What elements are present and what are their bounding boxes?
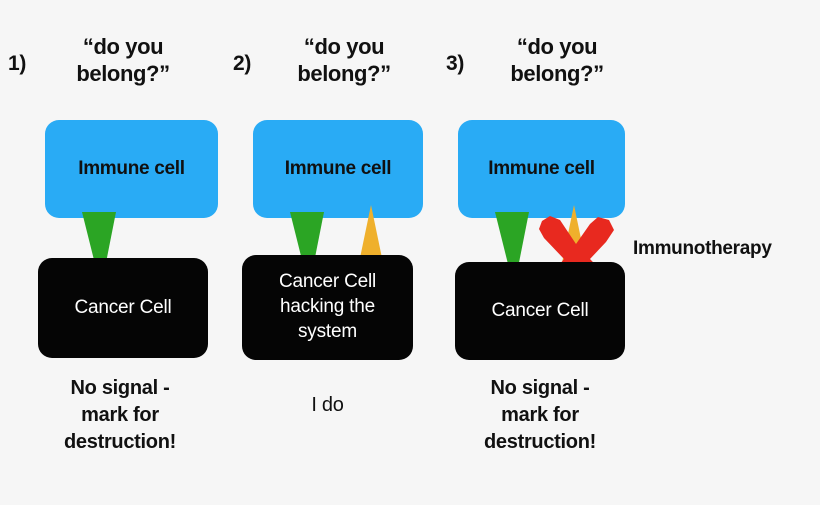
panel-1: 1) “do you belong?” Immune cell Cancer C… <box>0 0 250 505</box>
immune-cell-box-3: Immune cell <box>458 120 625 218</box>
question-text-3: “do you belong?” <box>482 34 632 88</box>
immune-cell-box-1: Immune cell <box>45 120 218 218</box>
cancer-cell-box-1: Cancer Cell <box>38 258 208 358</box>
cancer-cell-label-2: Cancer Cell hacking the system <box>271 270 384 344</box>
step-number-1: 1) <box>8 52 26 76</box>
caption-2: I do <box>225 392 430 419</box>
immune-cell-label-1: Immune cell <box>78 158 185 180</box>
immune-cell-box-2: Immune cell <box>253 120 423 218</box>
immune-cell-label-2: Immune cell <box>285 158 392 180</box>
cancer-cell-box-3: Cancer Cell <box>455 262 625 360</box>
question-text-1: “do you belong?” <box>48 34 198 88</box>
question-text-2: “do you belong?” <box>269 34 419 88</box>
immunotherapy-label: Immunotherapy <box>633 238 772 260</box>
caption-1: No signal - mark for destruction! <box>10 375 230 456</box>
immune-cell-label-3: Immune cell <box>488 158 595 180</box>
cancer-cell-label-3: Cancer Cell <box>483 299 596 324</box>
caption-3: No signal - mark for destruction! <box>430 375 650 456</box>
cancer-cell-label-1: Cancer Cell <box>66 296 179 321</box>
step-number-2: 2) <box>233 52 251 76</box>
immunotherapy-diagram: 1) “do you belong?” Immune cell Cancer C… <box>0 0 820 505</box>
step-number-3: 3) <box>446 52 464 76</box>
panel-2: 2) “do you belong?” Immune cell Cancer C… <box>225 0 440 505</box>
cancer-cell-box-2: Cancer Cell hacking the system <box>242 255 413 360</box>
